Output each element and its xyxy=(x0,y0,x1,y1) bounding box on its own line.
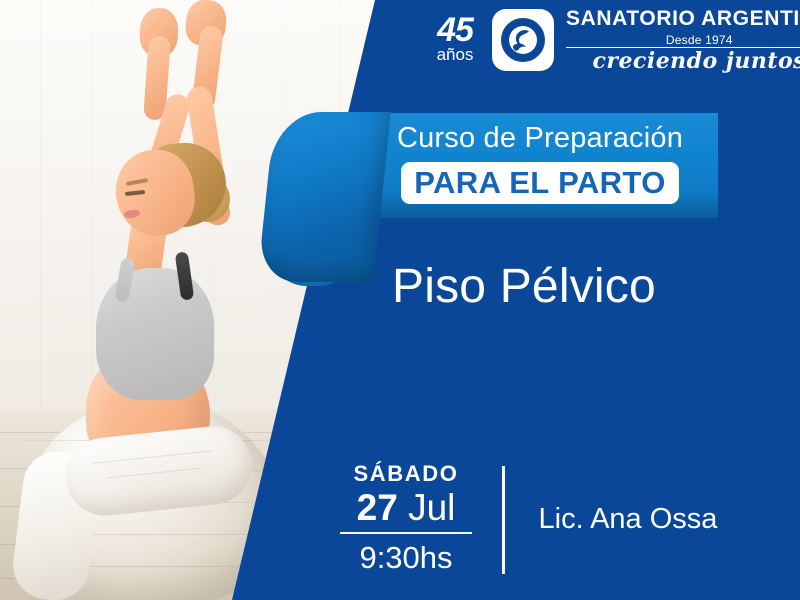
anniversary-word: años xyxy=(424,45,486,65)
course-subtitle: Curso de Preparación xyxy=(366,124,714,153)
event-time: 9:30hs xyxy=(340,539,472,578)
course-ribbon: Curso de Preparación PARA EL PARTO xyxy=(266,112,718,220)
day-of-week: SÁBADO xyxy=(340,462,472,485)
month-label: Jul xyxy=(408,487,455,528)
anniversary-number: 45 xyxy=(424,15,486,45)
brand-tagline: creciendo juntos xyxy=(566,50,800,72)
brand-header: 45 años SANATORIO ARGENTINO Desde 1974 c… xyxy=(424,8,800,72)
course-highlight-label: PARA EL PARTO xyxy=(414,167,666,198)
page-title: Piso Pélvico xyxy=(392,262,792,312)
brand-name: SANATORIO ARGENTINO xyxy=(566,8,800,29)
event-details: SÁBADO 27 Jul 9:30hs Lic. Ana Ossa xyxy=(340,462,717,577)
vertical-divider xyxy=(502,466,505,574)
promo-poster: 45 años SANATORIO ARGENTINO Desde 1974 c… xyxy=(0,0,800,600)
grey-tank-top xyxy=(96,268,214,400)
date-block: SÁBADO 27 Jul 9:30hs xyxy=(340,462,472,577)
date-row: 27 Jul xyxy=(340,487,472,533)
brand-lockup: SANATORIO ARGENTINO Desde 1974 creciendo… xyxy=(566,8,800,72)
ribbon-text: Curso de Preparación PARA EL PARTO xyxy=(366,112,714,204)
brand-since: Desde 1974 xyxy=(566,34,800,48)
anniversary-badge: 45 años xyxy=(424,15,486,65)
speaker-name: Lic. Ana Ossa xyxy=(539,503,718,536)
course-highlight-pill: PARA EL PARTO xyxy=(401,162,679,204)
day-number: 27 xyxy=(357,487,398,528)
sanatorio-swirl-icon xyxy=(492,9,554,71)
